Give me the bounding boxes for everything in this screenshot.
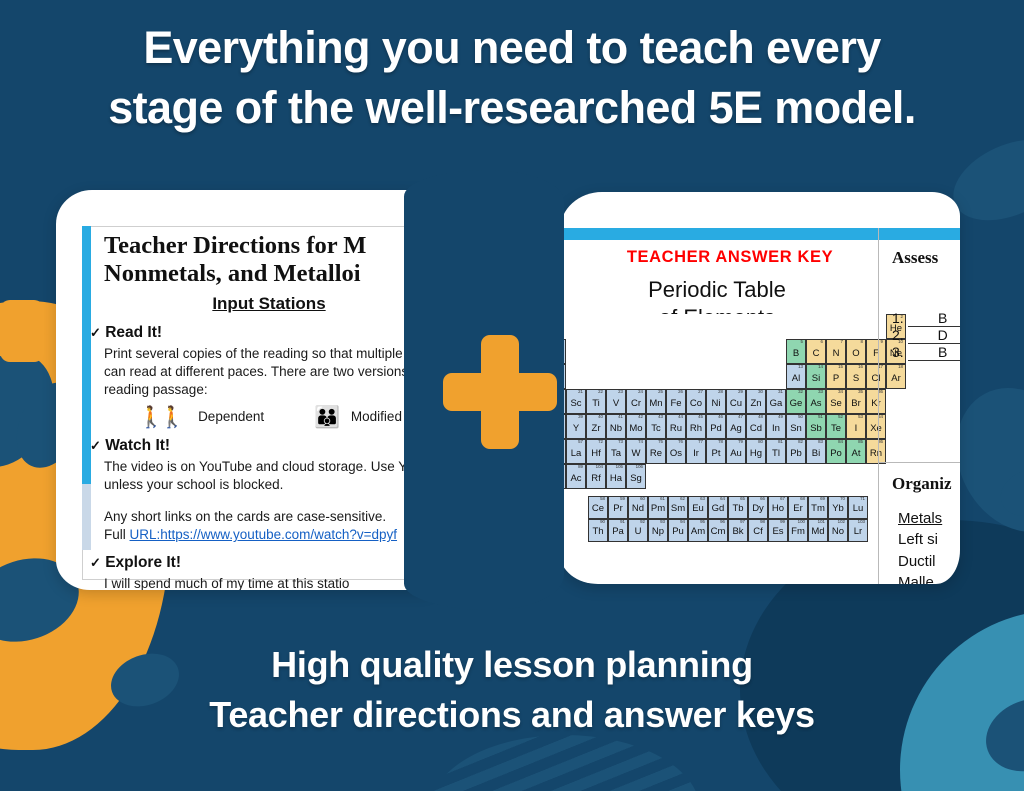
element-cell-In: 49In <box>766 414 786 439</box>
element-symbol: Am <box>689 526 707 537</box>
element-cell-Ha: 105Ha <box>606 464 626 489</box>
element-symbol: Ce <box>589 503 607 514</box>
element-cell-empty <box>626 364 646 389</box>
atomic-number: 15 <box>838 365 843 369</box>
element-cell-Po: 84Po <box>826 439 846 464</box>
element-cell-Fm: 100Fm <box>788 519 808 542</box>
element-symbol: Sm <box>669 503 687 514</box>
section-heading-explore-it: ✓ Explore It! <box>90 554 181 572</box>
atomic-number: 14 <box>818 365 823 369</box>
atomic-number: 89 <box>578 465 583 469</box>
document-title: Teacher Directions for M Nonmetals, and … <box>104 232 448 289</box>
element-cell-empty <box>586 364 606 389</box>
element-symbol: Mn <box>647 398 665 409</box>
subheadline: High quality lesson planning Teacher dir… <box>0 640 1024 741</box>
element-symbol: Br <box>847 398 865 409</box>
subheadline-line-2: Teacher directions and answer keys <box>0 690 1024 740</box>
atomic-number: 62 <box>680 497 685 501</box>
atomic-number: 34 <box>838 390 843 394</box>
atomic-number: 5 <box>801 340 803 344</box>
atomic-number: 16 <box>858 365 863 369</box>
orange-tab-decoration <box>0 300 44 362</box>
element-cell-Lu: 71Lu <box>848 496 868 519</box>
element-symbol: Md <box>809 526 827 537</box>
element-cell-Pu: 94Pu <box>668 519 688 542</box>
atomic-number: 68 <box>800 497 805 501</box>
light-accent-bar <box>82 484 91 550</box>
element-cell-Ag: 47Ag <box>726 414 746 439</box>
element-symbol: Tb <box>729 503 747 514</box>
atomic-number: 44 <box>678 415 683 419</box>
element-cell-Zr: 40Zr <box>586 414 606 439</box>
element-cell-Al: 13Al <box>786 364 806 389</box>
atomic-number: 41 <box>618 415 623 419</box>
element-symbol: Xe <box>867 423 885 434</box>
element-cell-C: 6C <box>806 339 826 364</box>
answer-row: 1. B <box>892 310 960 327</box>
assessment-heading: Assess <box>892 248 938 268</box>
element-symbol: Ha <box>607 473 625 484</box>
element-cell-Nb: 41Nb <box>606 414 626 439</box>
atomic-number: 61 <box>660 497 665 501</box>
element-cell-Dy: 66Dy <box>748 496 768 519</box>
element-cell-Am: 95Am <box>688 519 708 542</box>
element-symbol: Sg <box>627 473 645 484</box>
element-cell-Cu: 29Cu <box>726 389 746 414</box>
element-symbol: S <box>847 373 865 384</box>
element-symbol: Bi <box>807 448 825 459</box>
atomic-number: 105 <box>616 465 623 469</box>
element-cell-empty <box>826 314 846 339</box>
element-symbol: Yb <box>829 503 847 514</box>
atomic-number: 43 <box>658 415 663 419</box>
element-cell-Sn: 50Sn <box>786 414 806 439</box>
element-symbol: Po <box>827 448 845 459</box>
panel-divider <box>878 228 879 584</box>
periodic-table-row: 58Ce59Pr60Nd61Pm62Sm63Eu64Gd65Tb66Dy67Ho… <box>588 496 906 519</box>
element-cell-Se: 34Se <box>826 389 846 414</box>
element-cell-S: 16S <box>846 364 866 389</box>
document-subtitle: Input Stations <box>104 294 434 314</box>
section-label: Read It! <box>105 324 162 341</box>
element-cell-Rn: 86Rn <box>866 439 886 464</box>
element-cell-Tl: 81Tl <box>766 439 786 464</box>
element-symbol: Y <box>567 423 585 434</box>
atomic-number: 67 <box>780 497 785 501</box>
element-cell-Md: 101Md <box>808 519 828 542</box>
atomic-number: 60 <box>640 497 645 501</box>
element-cell-Rf: 104Rf <box>586 464 606 489</box>
element-cell-Eu: 63Eu <box>688 496 708 519</box>
element-cell-empty <box>706 364 726 389</box>
answer-value: B <box>908 344 960 361</box>
element-symbol: Th <box>589 526 607 537</box>
element-cell-empty <box>666 314 686 339</box>
element-symbol: Tl <box>767 448 785 459</box>
element-cell-empty <box>726 314 746 339</box>
element-cell-empty <box>586 314 606 339</box>
read-it-line-1: Print several copies of the reading so t… <box>104 345 417 363</box>
element-symbol: U <box>629 526 647 537</box>
periodic-table-row: 56Ba57La72Hf73Ta74W75Re76Os77Ir78Pt79Au8… <box>560 439 906 464</box>
element-symbol: Ge <box>787 398 805 409</box>
atomic-number: 28 <box>718 390 723 394</box>
atomic-number: 13 <box>798 365 803 369</box>
element-symbol: Zr <box>587 423 605 434</box>
document-title-line-2: Nonmetals, and Metalloi <box>104 260 448 288</box>
element-cell-Br: 35Br <box>846 389 866 414</box>
watch-it-line-1: The video is on YouTube and cloud storag… <box>104 458 421 476</box>
element-symbol: Es <box>769 526 787 537</box>
headline-line-2: stage of the well-researched 5E model. <box>18 78 1006 138</box>
element-cell-Cf: 98Cf <box>748 519 768 542</box>
atomic-number: 77 <box>698 440 703 444</box>
element-cell-Bi: 83Bi <box>806 439 826 464</box>
periodic-table-row: 20Ca21Sc22Ti23V24Cr25Mn26Fe27Co28Ni29Cu3… <box>560 389 906 414</box>
element-cell-Ce: 58Ce <box>588 496 608 519</box>
slide-canvas: Everything you need to teach every stage… <box>0 0 1024 791</box>
element-cell-Pa: 91Pa <box>608 519 628 542</box>
watch-it-line-2: unless your school is blocked. <box>104 476 283 494</box>
atomic-number: 84 <box>838 440 843 444</box>
atomic-number: 83 <box>818 440 823 444</box>
element-cell-empty <box>866 314 886 339</box>
atomic-number: 21 <box>578 390 583 394</box>
element-symbol: Ir <box>687 448 705 459</box>
element-cell-Tm: 69Tm <box>808 496 828 519</box>
atomic-number: 78 <box>718 440 723 444</box>
element-symbol: Cr <box>627 398 645 409</box>
atomic-number: 94 <box>680 520 685 524</box>
element-symbol: Pu <box>669 526 687 537</box>
element-cell-Er: 68Er <box>788 496 808 519</box>
atomic-number: 23 <box>618 390 623 394</box>
element-cell-Gd: 64Gd <box>708 496 728 519</box>
element-cell-Pm: 61Pm <box>648 496 668 519</box>
element-symbol: Ag <box>727 423 745 434</box>
element-symbol: No <box>829 526 847 537</box>
element-cell-empty <box>686 314 706 339</box>
element-cell-Pt: 78Pt <box>706 439 726 464</box>
atomic-number: 74 <box>638 440 643 444</box>
atomic-number: 8 <box>861 340 863 344</box>
element-cell-Au: 79Au <box>726 439 746 464</box>
element-cell-empty <box>626 339 646 364</box>
answer-row: 3. B <box>892 344 960 361</box>
element-symbol: Os <box>667 448 685 459</box>
element-symbol: Np <box>649 526 667 537</box>
atomic-number: 53 <box>858 415 863 419</box>
teacher-directions-card[interactable]: Teacher Directions for M Nonmetals, and … <box>56 190 448 590</box>
element-cell-empty <box>786 314 806 339</box>
element-cell-Co: 27Co <box>686 389 706 414</box>
element-cell-empty <box>766 314 786 339</box>
atomic-number: 57 <box>578 440 583 444</box>
atomic-number: 64 <box>720 497 725 501</box>
element-cell-Bk: 97Bk <box>728 519 748 542</box>
atomic-number: 33 <box>818 390 823 394</box>
atomic-number: 91 <box>620 520 625 524</box>
element-cell-Ga: 31Ga <box>766 389 786 414</box>
atomic-number: 9 <box>881 340 883 344</box>
atomic-number: 95 <box>700 520 705 524</box>
element-symbol: Sb <box>807 423 825 434</box>
atomic-number: 76 <box>678 440 683 444</box>
periodic-table-row: 90Th91Pa92U93Np94Pu95Am96Cm97Bk98Cf99Es1… <box>588 519 906 542</box>
element-symbol: Au <box>727 448 745 459</box>
element-symbol: Hg <box>747 448 765 459</box>
element-symbol: Ti <box>587 398 605 409</box>
atomic-number: 32 <box>798 390 803 394</box>
check-icon: ✓ <box>90 325 101 340</box>
element-cell-empty <box>686 364 706 389</box>
element-symbol: Ar <box>887 373 905 384</box>
element-symbol: Pb <box>787 448 805 459</box>
element-cell-empty <box>706 339 726 364</box>
element-cell-W: 74W <box>626 439 646 464</box>
answer-key-card[interactable]: TEACHER ANSWER KEY Periodic Table of Ele… <box>560 192 960 584</box>
document-title-line-1: Teacher Directions for M <box>104 232 448 260</box>
element-cell-Ta: 73Ta <box>606 439 626 464</box>
element-symbol: Cu <box>727 398 745 409</box>
atomic-number: 27 <box>698 390 703 394</box>
element-cell-empty <box>606 339 626 364</box>
element-symbol: Ac <box>567 473 585 484</box>
element-symbol: Pt <box>707 448 725 459</box>
organizer-heading: Organiz <box>892 474 952 494</box>
element-symbol: Lr <box>849 526 867 537</box>
element-symbol: B <box>787 348 805 359</box>
atomic-number: 58 <box>600 497 605 501</box>
periodic-table-row: 38Sr39Y40Zr41Nb42Mo43Tc44Ru45Rh46Pd47Ag4… <box>560 414 906 439</box>
read-it-line-2: can read at different paces. There are t… <box>104 363 408 381</box>
element-cell-Zn: 30Zn <box>746 389 766 414</box>
element-cell-I: 53I <box>846 414 866 439</box>
answer-value: D <box>908 327 960 344</box>
atomic-number: 25 <box>658 390 663 394</box>
element-cell-Ru: 44Ru <box>666 414 686 439</box>
element-cell-Sb: 51Sb <box>806 414 826 439</box>
element-symbol: Co <box>687 398 705 409</box>
atomic-number: 73 <box>618 440 623 444</box>
atomic-number: 70 <box>840 497 845 501</box>
periodic-table: 2He4Be5B6C7N8O9F10Ne12Mg13Al14Si15P16S17… <box>560 314 906 542</box>
atomic-number: 80 <box>758 440 763 444</box>
element-cell-Cr: 24Cr <box>626 389 646 414</box>
atomic-number: 46 <box>718 415 723 419</box>
element-symbol: Eu <box>689 503 707 514</box>
element-symbol: Ru <box>667 423 685 434</box>
element-symbol: Pa <box>609 526 627 537</box>
element-cell-Xe: 54Xe <box>866 414 886 439</box>
atomic-number: 26 <box>678 390 683 394</box>
organizer-line: Ductil <box>898 551 942 572</box>
element-cell-Te: 52Te <box>826 414 846 439</box>
element-symbol: At <box>847 448 865 459</box>
element-symbol: Mo <box>627 423 645 434</box>
element-cell-Cm: 96Cm <box>708 519 728 542</box>
element-cell-No: 102No <box>828 519 848 542</box>
element-cell-Os: 76Os <box>666 439 686 464</box>
periodic-table-row: 88Ra89Ac104Rf105Ha106Sg <box>560 464 906 489</box>
element-cell-Kr: 36Kr <box>866 389 886 414</box>
element-symbol: Ga <box>767 398 785 409</box>
check-icon: ✓ <box>90 438 101 453</box>
striped-circle-decoration <box>430 735 700 791</box>
periodic-table-row: 12Mg13Al14Si15P16S17Cl18Ar <box>560 364 906 389</box>
element-cell-V: 23V <box>606 389 626 414</box>
subheadline-line-1: High quality lesson planning <box>0 640 1024 690</box>
element-cell-Sg: 106Sg <box>626 464 646 489</box>
element-cell-empty <box>566 364 586 389</box>
note-line-1: Any short links on the cards are case-se… <box>104 508 386 526</box>
element-cell-empty <box>606 314 626 339</box>
atomic-number: 50 <box>798 415 803 419</box>
pictogram-dependent: 🚶🚶 Dependent <box>138 406 264 430</box>
atomic-number: 99 <box>780 520 785 524</box>
element-cell-Mn: 25Mn <box>646 389 666 414</box>
element-cell-Si: 14Si <box>806 364 826 389</box>
element-cell-Ir: 77Ir <box>686 439 706 464</box>
element-cell-empty <box>766 364 786 389</box>
element-cell-Es: 99Es <box>768 519 788 542</box>
element-symbol: Nd <box>629 503 647 514</box>
element-symbol: Hf <box>587 448 605 459</box>
hikers-icon: 🚶🚶 <box>138 406 180 429</box>
element-symbol: Nb <box>607 423 625 434</box>
teacher-answer-key-label: TEACHER ANSWER KEY <box>560 248 900 267</box>
element-cell-Tc: 43Tc <box>646 414 666 439</box>
element-cell-empty <box>846 314 866 339</box>
plus-badge <box>443 335 557 449</box>
element-symbol: Cf <box>749 526 767 537</box>
atomic-number: 69 <box>820 497 825 501</box>
element-cell-empty <box>626 314 646 339</box>
atomic-number: 30 <box>758 390 763 394</box>
element-symbol: In <box>767 423 785 434</box>
element-cell-F: 9F <box>866 339 886 364</box>
element-cell-empty <box>566 314 586 339</box>
element-symbol: C <box>807 348 825 359</box>
element-cell-empty <box>646 364 666 389</box>
element-symbol: F <box>867 348 885 359</box>
element-cell-Re: 75Re <box>646 439 666 464</box>
check-icon: ✓ <box>90 555 101 570</box>
element-cell-B: 5B <box>786 339 806 364</box>
periodic-table-main-rows: 2He4Be5B6C7N8O9F10Ne12Mg13Al14Si15P16S17… <box>560 314 906 489</box>
answer-number: 2. <box>892 327 904 343</box>
element-cell-Ac: 89Ac <box>566 464 586 489</box>
atomic-number: 75 <box>658 440 663 444</box>
element-symbol: V <box>607 398 625 409</box>
youtube-url-link[interactable]: URL:https://www.youtube.com/watch?v=dpyf <box>130 527 398 542</box>
element-symbol: Pm <box>649 503 667 514</box>
periodic-table-title-line-1: Periodic Table <box>592 276 842 304</box>
element-cell-empty <box>566 339 586 364</box>
element-cell-Mo: 42Mo <box>626 414 646 439</box>
element-cell-Lr: 103Lr <box>848 519 868 542</box>
section-divider <box>879 462 960 463</box>
element-cell-empty <box>746 339 766 364</box>
section-heading-read-it: ✓ Read It! <box>90 324 162 342</box>
atomic-number: 90 <box>600 520 605 524</box>
atomic-number: 71 <box>860 497 865 501</box>
element-cell-Nd: 60Nd <box>628 496 648 519</box>
element-symbol: Fm <box>789 526 807 537</box>
element-symbol: Gd <box>709 503 727 514</box>
organizer-line: Left si <box>898 529 942 550</box>
element-symbol: As <box>807 398 825 409</box>
element-cell-Y: 39Y <box>566 414 586 439</box>
note-prefix: Full <box>104 527 130 542</box>
element-cell-Hg: 80Hg <box>746 439 766 464</box>
element-symbol: Al <box>787 373 805 384</box>
element-symbol: Re <box>647 448 665 459</box>
element-cell-As: 33As <box>806 389 826 414</box>
element-cell-Ti: 22Ti <box>586 389 606 414</box>
element-cell-O: 8O <box>846 339 866 364</box>
element-cell-Ni: 28Ni <box>706 389 726 414</box>
pictogram-label: Modified <box>351 409 402 424</box>
element-cell-At: 85At <box>846 439 866 464</box>
element-symbol: Ta <box>607 448 625 459</box>
element-cell-Ge: 32Ge <box>786 389 806 414</box>
element-cell-empty <box>726 364 746 389</box>
answer-number: 1. <box>892 310 904 326</box>
atomic-number: 79 <box>738 440 743 444</box>
section-label: Watch It! <box>105 437 170 454</box>
element-cell-empty <box>666 364 686 389</box>
element-symbol: Sn <box>787 423 805 434</box>
periodic-table-row: 2He <box>560 314 906 339</box>
atomic-number: 81 <box>778 440 783 444</box>
element-cell-Sc: 21Sc <box>566 389 586 414</box>
element-cell-Rh: 45Rh <box>686 414 706 439</box>
pictogram-label: Dependent <box>198 409 264 424</box>
element-cell-Sm: 62Sm <box>668 496 688 519</box>
atomic-number: 24 <box>638 390 643 394</box>
atomic-number: 48 <box>758 415 763 419</box>
atomic-number: 51 <box>818 415 823 419</box>
read-it-line-3: reading passage: <box>104 381 208 399</box>
element-symbol: Cd <box>747 423 765 434</box>
element-cell-P: 15P <box>826 364 846 389</box>
element-cell-empty <box>666 339 686 364</box>
element-cell-Np: 93Np <box>648 519 668 542</box>
atomic-number: 52 <box>838 415 843 419</box>
atomic-number: 98 <box>760 520 765 524</box>
element-symbol: W <box>627 448 645 459</box>
element-cell-empty <box>706 314 726 339</box>
element-symbol: Rh <box>687 423 705 434</box>
atomic-number: 97 <box>740 520 745 524</box>
element-cell-Fe: 26Fe <box>666 389 686 414</box>
element-cell-Cl: 17Cl <box>866 364 886 389</box>
element-symbol: Rf <box>587 473 605 484</box>
element-symbol: Pr <box>609 503 627 514</box>
element-symbol: Dy <box>749 503 767 514</box>
element-cell-empty <box>646 314 666 339</box>
atomic-number: 49 <box>778 415 783 419</box>
atomic-number: 63 <box>700 497 705 501</box>
atomic-number: 93 <box>660 520 665 524</box>
element-cell-empty <box>766 339 786 364</box>
organizer-line: Malle <box>898 572 942 584</box>
element-cell-Cd: 48Cd <box>746 414 766 439</box>
element-symbol: La <box>567 448 585 459</box>
element-symbol: Si <box>807 373 825 384</box>
element-symbol: Tc <box>647 423 665 434</box>
